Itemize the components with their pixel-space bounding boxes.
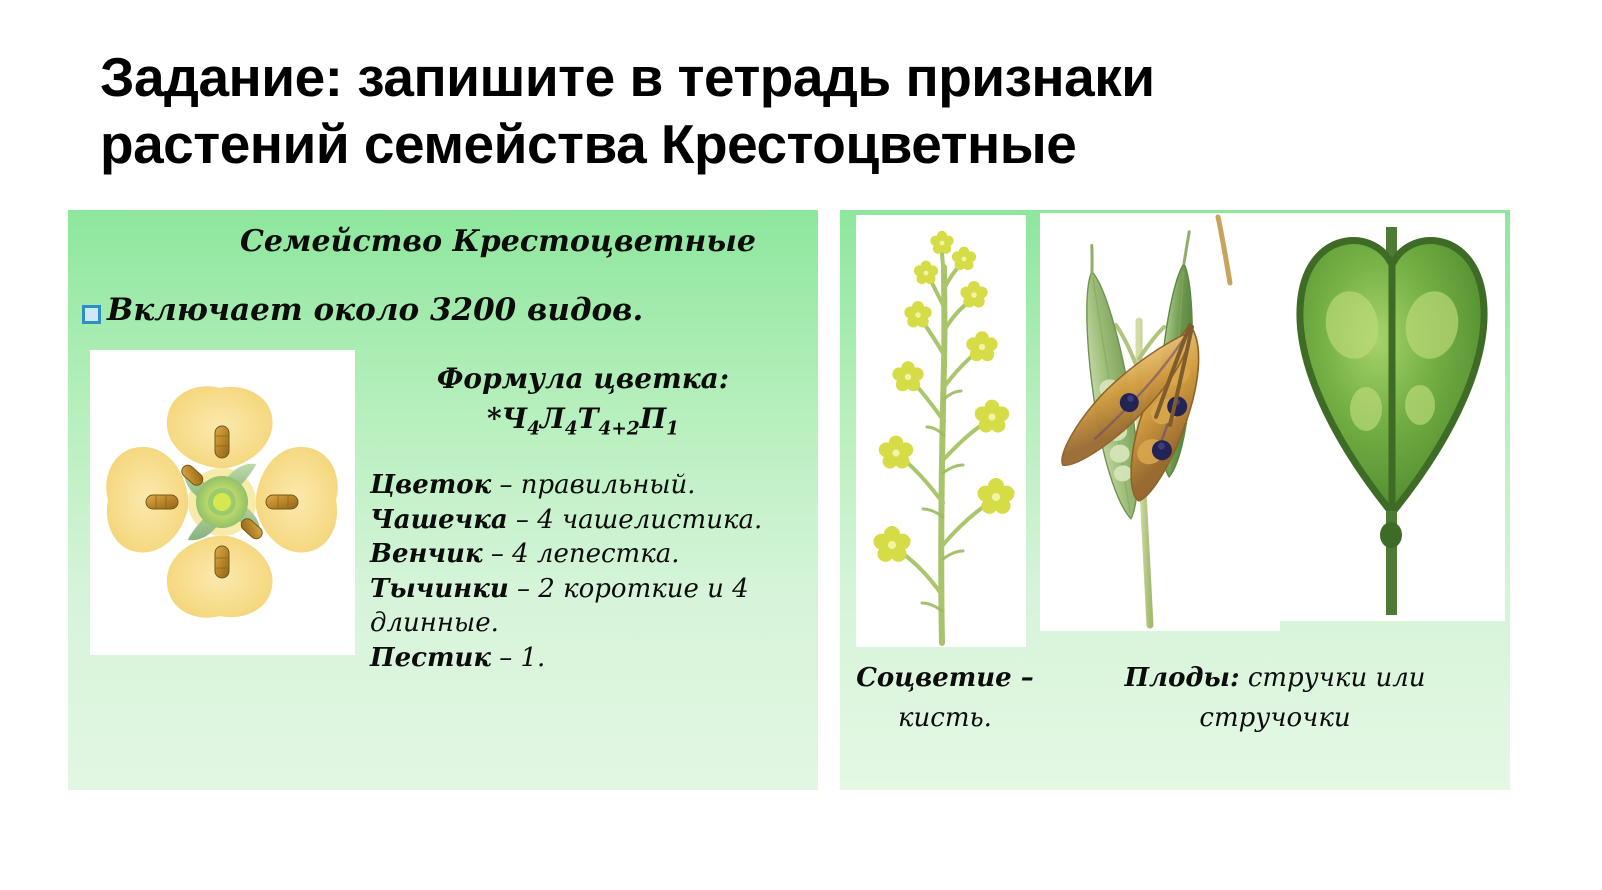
feature-item: Чашечка – 4 чашелистика.	[370, 503, 810, 538]
right-images-panel: Соцветие – кисть. Плоды: стручки или стр…	[840, 210, 1510, 790]
feature-term: Пестик	[370, 643, 491, 673]
feature-item: Пестик – 1.	[370, 641, 810, 676]
feature-item: Цветок – правильный.	[370, 468, 810, 503]
feature-item: Тычинки – 2 короткие и 4 длинные.	[370, 572, 810, 641]
flower-feature-list: Цветок – правильный.Чашечка – 4 чашелист…	[370, 468, 810, 675]
flower-image-box	[90, 350, 355, 655]
inflorescence-caption-bold: Соцветие –	[856, 663, 1034, 693]
species-count-label: Включает около 3200 видов.	[107, 292, 643, 328]
formula-term: Ч4	[502, 402, 540, 435]
fruit-pods-image	[1040, 213, 1280, 631]
formula-subscript: 4	[527, 419, 540, 440]
cruciferous-flower-diagram	[90, 350, 355, 655]
checkbox-square-icon	[82, 305, 101, 324]
formula-subscript: 1	[666, 419, 679, 440]
page-title: Задание: запишите в тетрадь признаки рас…	[100, 44, 1400, 178]
inflorescence-caption: Соцветие – кисть.	[850, 658, 1040, 739]
feature-value: – правильный.	[491, 470, 695, 500]
feature-value: – 4 лепестка.	[483, 539, 680, 569]
silicle-image-box	[1280, 213, 1505, 621]
left-info-panel: Семейство Крестоцветные Включает около 3…	[68, 210, 818, 790]
inflorescence-raceme-image	[856, 215, 1026, 647]
slide-root: Задание: запишите в тетрадь признаки рас…	[0, 0, 1602, 890]
feature-value: – 4 чашелистика.	[508, 505, 763, 535]
formula-term: Л4	[540, 402, 578, 435]
formula-term: П1	[640, 402, 679, 435]
inflorescence-caption-rest: кисть.	[898, 703, 992, 733]
formula-subscript: 4+2	[599, 419, 640, 440]
feature-item: Венчик – 4 лепестка.	[370, 537, 810, 572]
flower-formula-heading: Формула цветка:	[368, 362, 798, 395]
feature-term: Чашечка	[370, 505, 508, 535]
feature-term: Цветок	[370, 470, 491, 500]
heart-shaped-silicle-image	[1280, 213, 1505, 621]
flower-formula-value: *Ч4Л4Т4+2П1	[368, 402, 798, 440]
species-count-bullet: Включает около 3200 видов.	[82, 292, 643, 328]
feature-term: Венчик	[370, 539, 483, 569]
feature-value: – 1.	[491, 643, 545, 673]
fruit-caption-bold: Плоды:	[1124, 663, 1239, 693]
fruit-caption: Плоды: стручки или стручочки	[1065, 658, 1485, 739]
fruit-pods-image-box	[1040, 213, 1280, 631]
family-heading: Семейство Крестоцветные	[203, 224, 793, 259]
feature-term: Тычинки	[370, 574, 509, 604]
formula-term: Т4+2	[578, 402, 640, 435]
formula-subscript: 4	[565, 419, 578, 440]
inflorescence-image-box	[856, 215, 1026, 647]
